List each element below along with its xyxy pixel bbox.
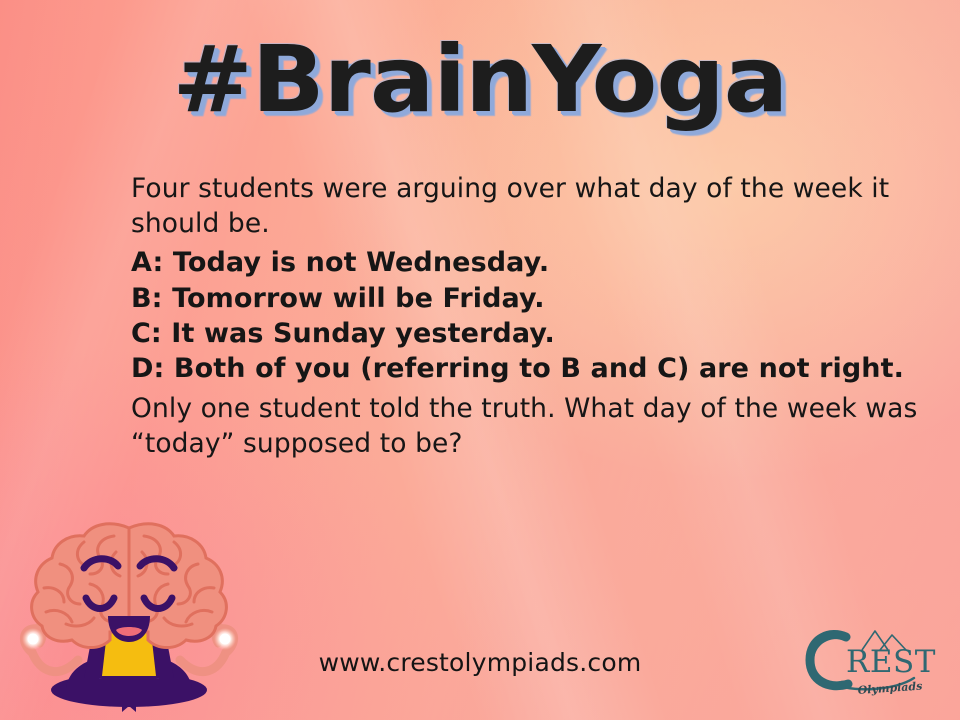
puzzle-text-block: Four students were arguing over what day…	[131, 172, 931, 461]
page-title: #BrainYoga	[0, 34, 960, 126]
logo-wordmark: REST	[846, 644, 936, 680]
crest-olympiads-logo[interactable]: REST Olympiads	[800, 624, 936, 700]
brain-yoga-poster: #BrainYoga Four students were arguing ov…	[0, 0, 960, 720]
puzzle-intro: Four students were arguing over what day…	[131, 172, 931, 241]
statement-c: C: It was Sunday yesterday.	[131, 316, 931, 351]
statement-a: A: Today is not Wednesday.	[131, 245, 931, 280]
meditating-brain-icon	[4, 512, 254, 720]
statement-d: D: Both of you (referring to B and C) ar…	[131, 351, 931, 386]
logo-letter-c	[808, 635, 848, 686]
logo-tagline: Olympiads	[857, 680, 922, 697]
puzzle-question: Only one student told the truth. What da…	[131, 392, 931, 461]
statement-b: B: Tomorrow will be Friday.	[131, 281, 931, 316]
